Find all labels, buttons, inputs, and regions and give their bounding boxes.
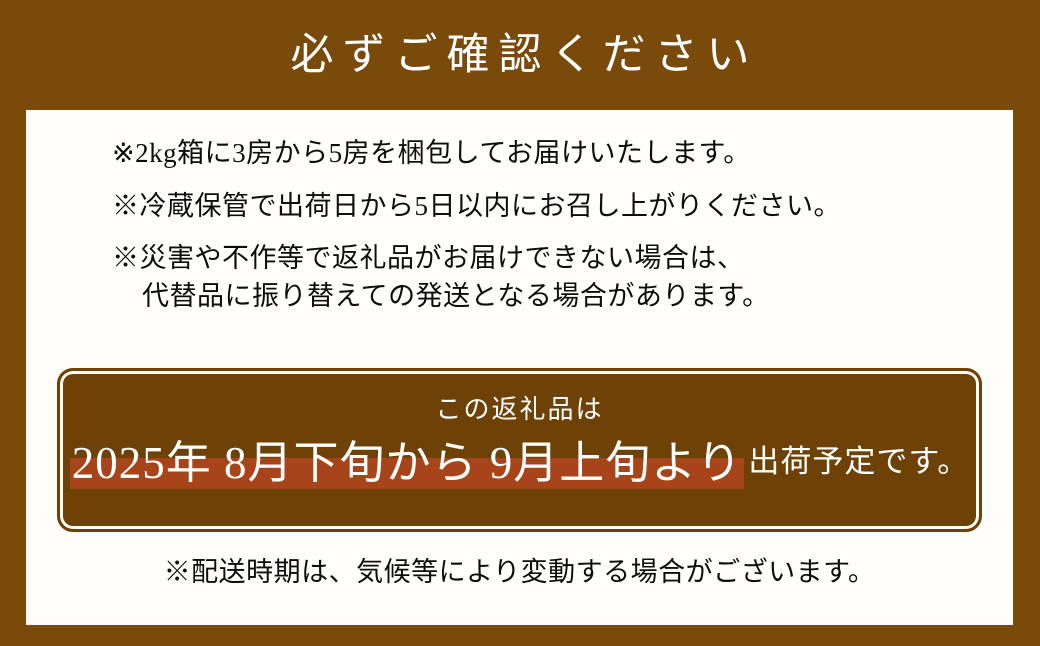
note-text: ※災害や不作等で返礼品がお届けできない場合は、 (112, 243, 745, 273)
notice-page: 必ずご確認ください ※2kg箱に3房から5房を梱包してお届けいたします。 ※冷蔵… (0, 0, 1040, 646)
shipping-period-text: 2025年 8月下旬から 9月上旬より (72, 438, 743, 488)
note-item: ※冷蔵保管で出荷日から5日以内にお召し上がりください。 (112, 189, 992, 225)
page-header: 必ずご確認ください (0, 0, 1040, 110)
shipping-period-highlight: 2025年 8月下旬から 9月上旬より (70, 426, 745, 491)
shipping-lead-label: この返礼品は (60, 389, 979, 426)
shipping-date-row: 2025年 8月下旬から 9月上旬より 出荷予定です。 (60, 425, 979, 491)
note-item: ※2kg箱に3房から5房を梱包してお届けいたします。 (112, 136, 992, 172)
shipping-period-box: この返礼品は 2025年 8月下旬から 9月上旬より 出荷予定です。 (57, 368, 982, 532)
page-title: 必ずご確認ください (282, 34, 759, 77)
notes-list: ※2kg箱に3房から5房を梱包してお届けいたします。 ※冷蔵保管で出荷日から5日… (112, 136, 992, 332)
note-item: ※災害や不作等で返礼品がお届けできない場合は、 代替品に振り替えての発送となる場… (112, 241, 992, 314)
note-text-continued: 代替品に振り替えての発送となる場合があります。 (112, 279, 992, 315)
shipping-tail-text: 出荷予定です。 (744, 436, 969, 481)
footnote-text: ※配送時期は、気候等により変動する場合がございます。 (26, 550, 1013, 589)
note-text: ※冷蔵保管で出荷日から5日以内にお召し上がりください。 (112, 191, 841, 221)
content-panel: ※2kg箱に3房から5房を梱包してお届けいたします。 ※冷蔵保管で出荷日から5日… (26, 110, 1013, 625)
note-text: ※2kg箱に3房から5房を梱包してお届けいたします。 (112, 138, 751, 168)
